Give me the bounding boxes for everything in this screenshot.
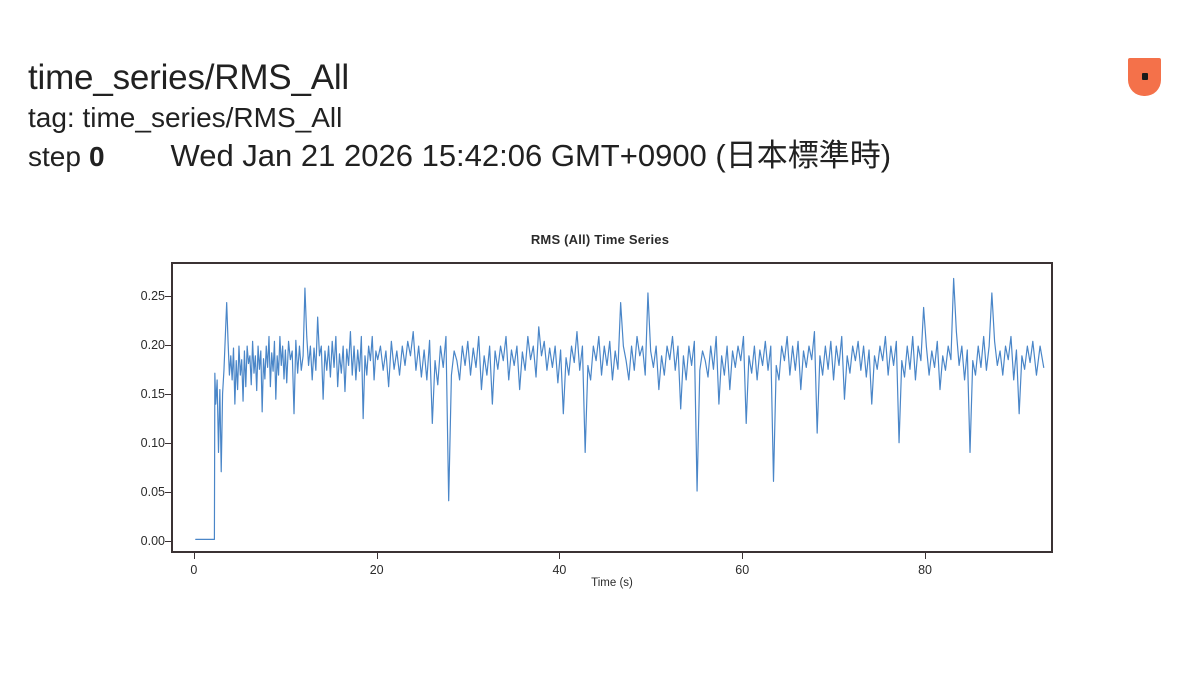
orange-marker-icon[interactable]	[1128, 58, 1161, 96]
y-tick-label: 0.20	[141, 338, 165, 352]
y-tick-label: 0.10	[141, 436, 165, 450]
x-tick-label: 20	[370, 563, 384, 577]
x-axis-label: Time (s)	[171, 577, 1053, 589]
y-tick-label: 0.25	[141, 289, 165, 303]
x-tick-label: 60	[735, 563, 749, 577]
x-tick-label: 0	[190, 563, 197, 577]
tag-line: tag: time_series/RMS_All	[28, 100, 1178, 136]
y-axis-ticks: 0.000.050.100.150.200.25	[110, 262, 165, 553]
page-title: time_series/RMS_All	[28, 56, 1178, 100]
x-tick-label: 80	[918, 563, 932, 577]
x-tick-mark	[377, 553, 378, 559]
x-tick-mark	[925, 553, 926, 559]
x-tick-mark	[742, 553, 743, 559]
y-tick-label: 0.05	[141, 485, 165, 499]
y-tick-label: 0.15	[141, 387, 165, 401]
step-row: step 0 Wed Jan 21 2026 15:42:06 GMT+0900…	[28, 136, 1178, 177]
step-label: step	[28, 137, 81, 177]
x-tick-mark	[559, 553, 560, 559]
marker-dot-icon	[1142, 73, 1148, 80]
series-line-svg	[173, 264, 1051, 551]
x-tick-label: 40	[552, 563, 566, 577]
y-tick-label: 0.00	[141, 534, 165, 548]
chart-title: RMS (All) Time Series	[110, 232, 1090, 247]
plot-area	[171, 262, 1053, 553]
wall-time: Wed Jan 21 2026 15:42:06 GMT+0900 (日本標準時…	[171, 136, 892, 176]
time-series-chart: RMS (All) Time Series 0.000.050.100.150.…	[110, 232, 1090, 607]
chart-header: time_series/RMS_All tag: time_series/RMS…	[28, 56, 1178, 177]
series-rms-all	[196, 278, 1044, 539]
step-value: 0	[89, 137, 105, 177]
x-tick-mark	[194, 553, 195, 559]
